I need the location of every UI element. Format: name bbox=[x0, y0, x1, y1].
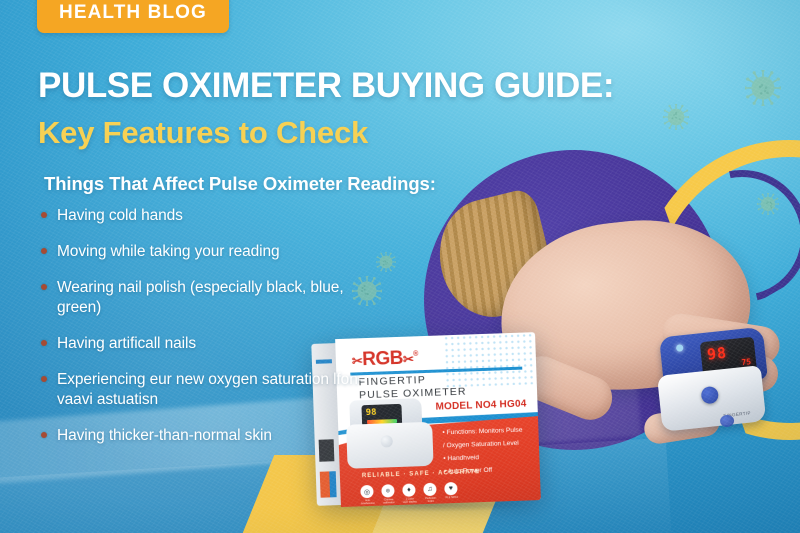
box-icon-badge: ♥PI & SPO2 bbox=[444, 482, 458, 495]
box-badge-glyph-icon: ♥ bbox=[444, 482, 457, 495]
bullet-item: Moving while taking your reading bbox=[40, 242, 370, 262]
pulse-oximeter-device: 98 75 FINGERTIP bbox=[653, 324, 777, 440]
factors-bullet-list: Having cold handsMoving while taking you… bbox=[40, 206, 370, 462]
bullet-text: Having artificall nails bbox=[57, 335, 196, 352]
oximeter-secondary-button[interactable] bbox=[719, 414, 734, 427]
bullet-item: Having artificall nails bbox=[40, 334, 370, 354]
box-icon-badge: ◎Anti-Interference bbox=[360, 485, 374, 498]
bullet-dot-icon bbox=[41, 376, 47, 382]
box-badge-caption: Anti-Interference bbox=[361, 499, 375, 505]
oximeter-indicator-led-icon bbox=[676, 344, 684, 352]
bullet-item: Having thicker-than-normal skin bbox=[40, 426, 370, 446]
bullet-text: Experiencing eur new oxygen saturation l… bbox=[57, 371, 363, 408]
bullet-dot-icon bbox=[41, 212, 47, 218]
box-badge-glyph-icon: ♫ bbox=[423, 483, 436, 496]
box-icon-badge: ♫Perfusion Index bbox=[423, 483, 437, 496]
virus-icon bbox=[376, 252, 396, 272]
bullet-item: Wearing nail polish (especially black, b… bbox=[40, 278, 370, 318]
virus-icon bbox=[663, 104, 689, 130]
bullet-text: Having cold hands bbox=[57, 207, 183, 224]
box-icon-badge: ♦1 Color LED display bbox=[402, 483, 416, 496]
box-badge-caption: Chinese calibration bbox=[382, 498, 396, 504]
oximeter-spo2-value: 98 bbox=[706, 344, 728, 364]
box-model-number: MODEL NO4 HG04 bbox=[435, 398, 526, 412]
health-blog-badge[interactable]: HEALTH BLOG bbox=[37, 0, 229, 33]
bullet-item: Experiencing eur new oxygen saturation l… bbox=[40, 370, 370, 410]
list-heading: Things That Affect Pulse Oximeter Readin… bbox=[44, 173, 436, 195]
box-badge-caption: PI & SPO2 bbox=[445, 496, 459, 499]
box-badge-caption: 1 Color LED display bbox=[403, 497, 417, 503]
box-icon-badges: ◎Anti-Interference๏Chinese calibration♦1… bbox=[360, 482, 458, 498]
virus-icon bbox=[745, 70, 781, 106]
box-badge-glyph-icon: ♦ bbox=[402, 483, 415, 496]
scissors-mark-icon-2: ✂ bbox=[403, 351, 414, 366]
box-badge-glyph-icon: ◎ bbox=[360, 485, 373, 498]
registered-icon: ® bbox=[413, 351, 418, 358]
bullet-dot-icon bbox=[41, 284, 47, 290]
box-badge-caption: Perfusion Index bbox=[424, 497, 438, 503]
bullet-text: Wearing nail polish (especially black, b… bbox=[57, 279, 344, 316]
box-icon-badge: ๏Chinese calibration bbox=[381, 484, 395, 497]
box-dot-pattern bbox=[443, 332, 537, 387]
bullet-dot-icon bbox=[41, 248, 47, 254]
bullet-item: Having cold hands bbox=[40, 206, 370, 226]
poster-canvas: 98 75 FINGERTIP ✂RGB✂® FINGERTIP PULSE O… bbox=[0, 0, 800, 533]
bullet-dot-icon bbox=[41, 432, 47, 438]
bullet-text: Moving while taking your reading bbox=[57, 243, 280, 260]
box-badge-glyph-icon: ๏ bbox=[381, 484, 394, 497]
page-title: PULSE OXIMETER BUYING GUIDE: bbox=[38, 66, 614, 106]
page-subtitle: Key Features to Check bbox=[38, 115, 368, 151]
bullet-text: Having thicker-than-normal skin bbox=[57, 427, 272, 444]
bullet-dot-icon bbox=[41, 340, 47, 346]
